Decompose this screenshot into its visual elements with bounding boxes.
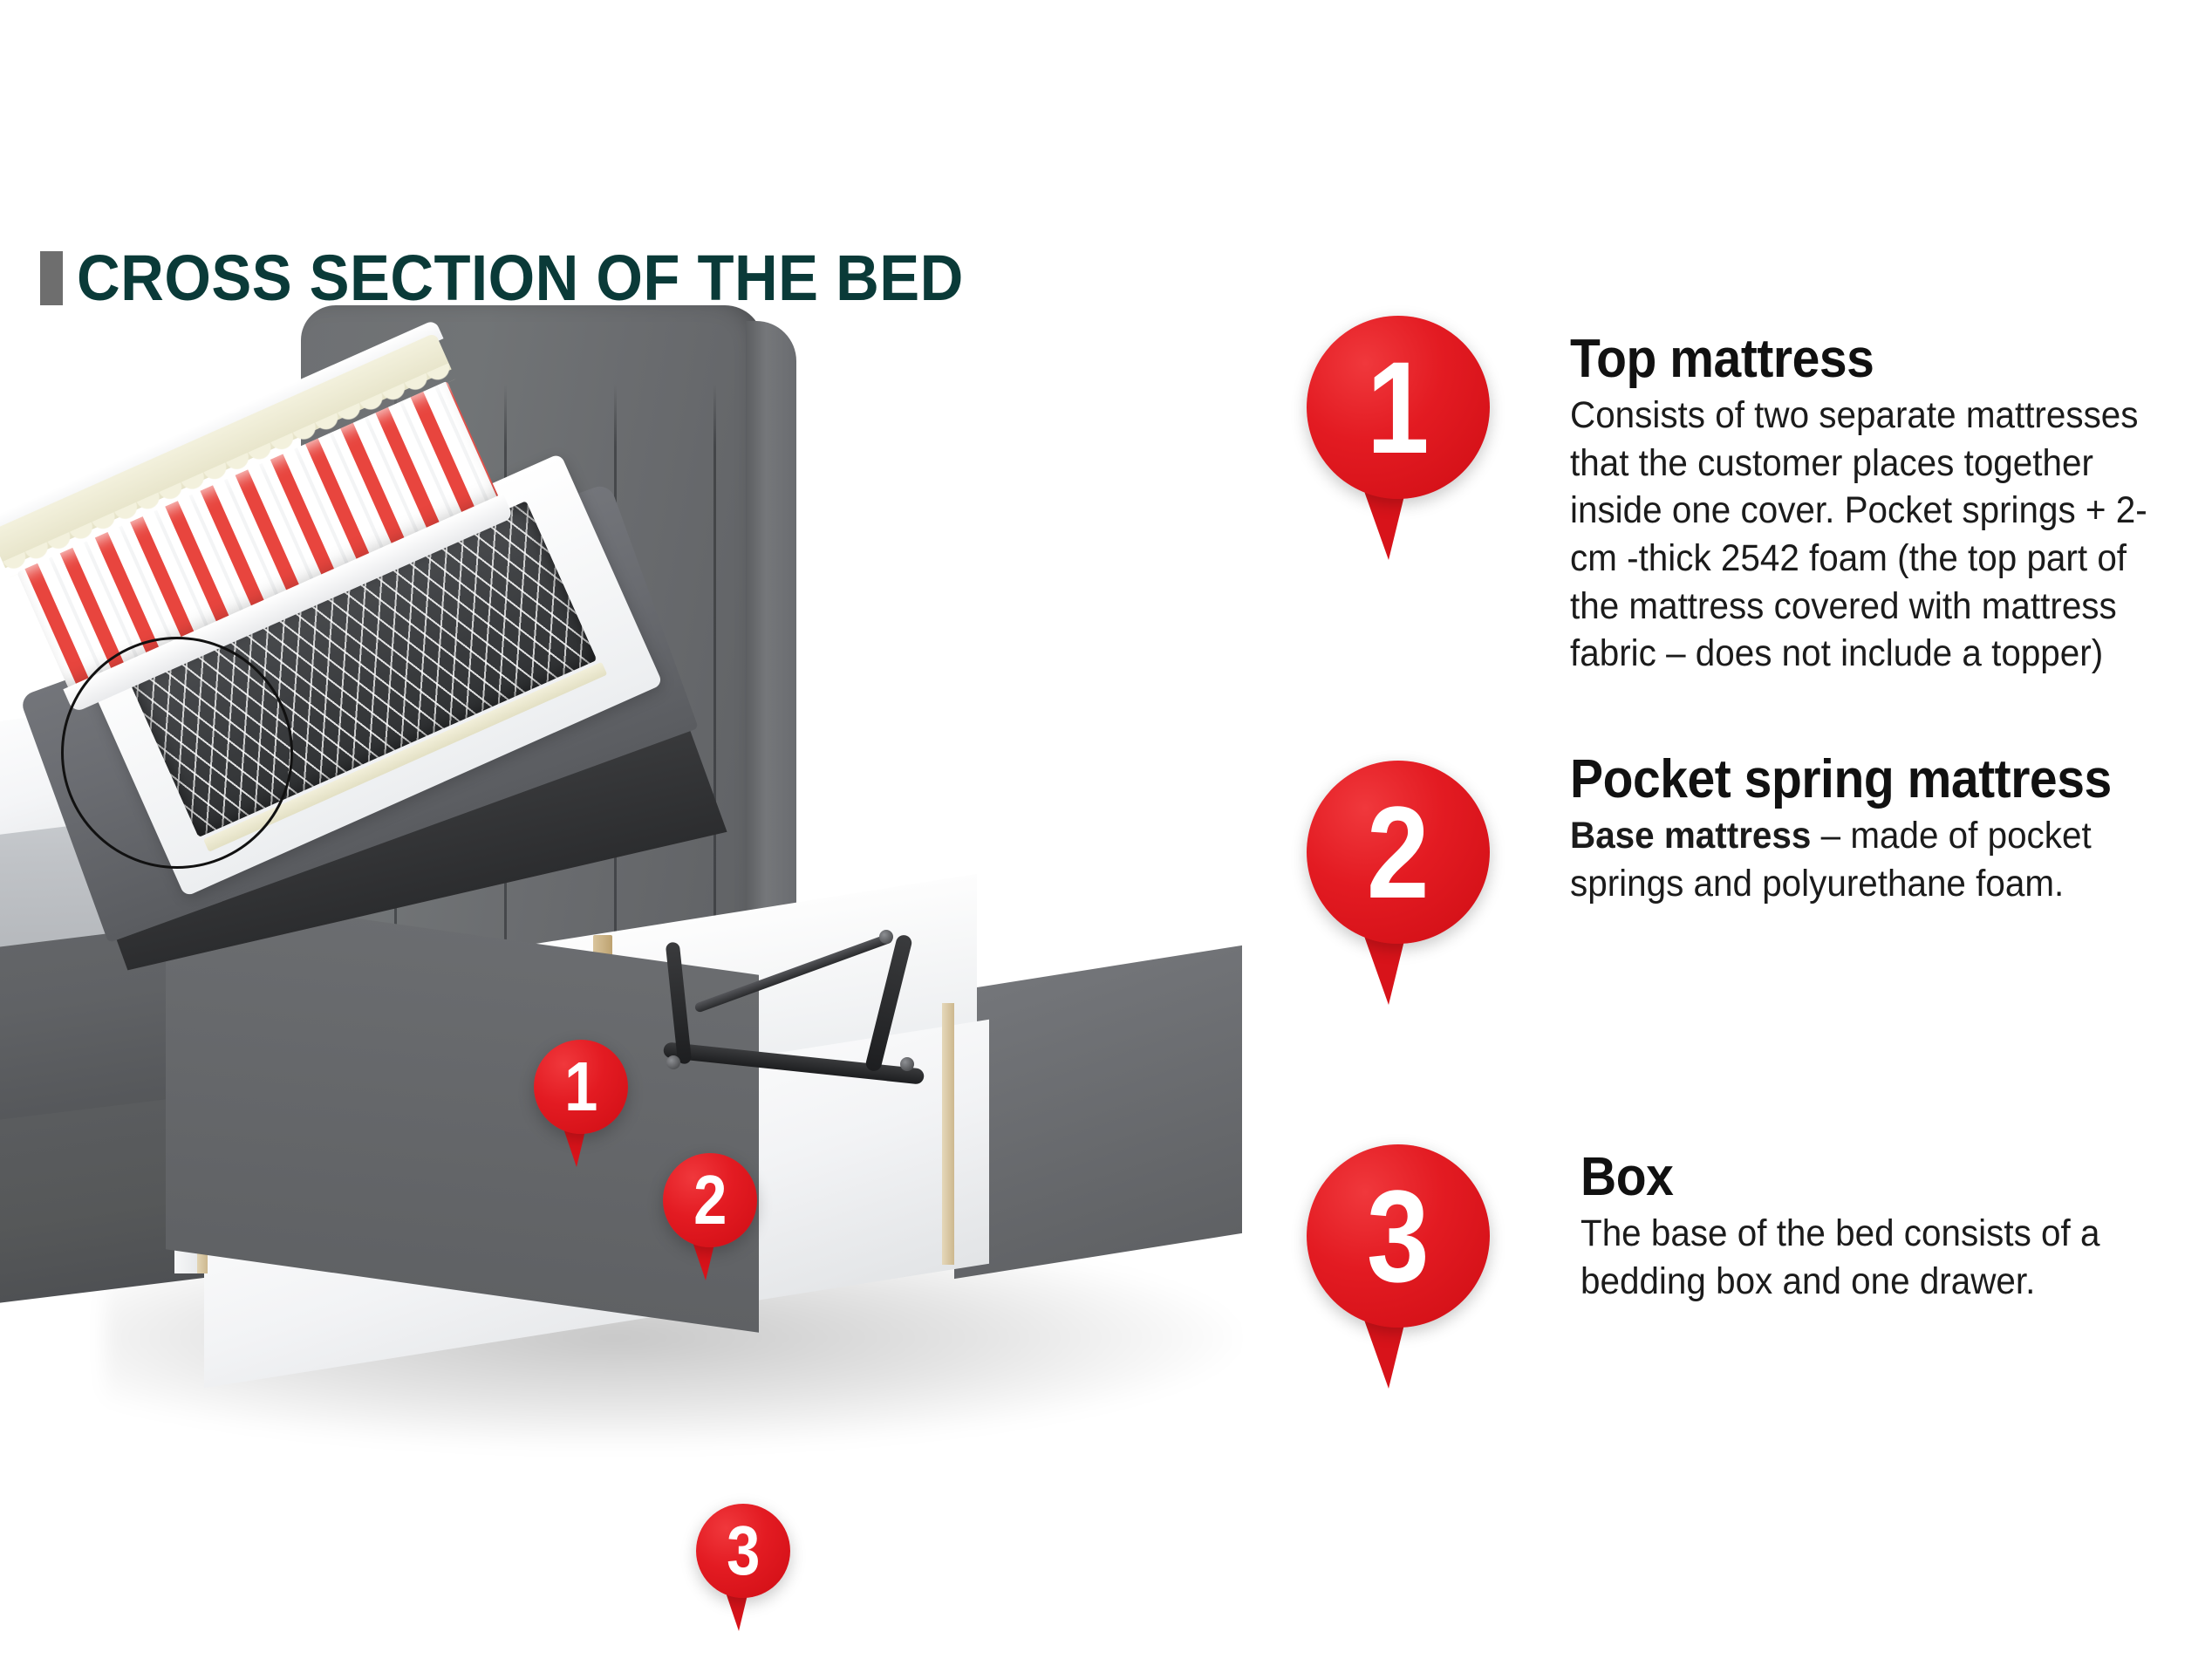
- marker-bubble: 1: [1307, 316, 1490, 499]
- callout-body: The base of the bed consists of a beddin…: [1580, 1210, 2174, 1305]
- marker-number: 3: [727, 1516, 760, 1586]
- marker-number: 1: [564, 1052, 597, 1122]
- callout-heading: Box: [1580, 1150, 2161, 1205]
- strut-pivot: [879, 930, 893, 944]
- marker-bubble: 3: [1307, 1144, 1490, 1328]
- callout-body-lead: Base mattress: [1570, 815, 1811, 857]
- marker-number: 1: [1367, 342, 1430, 473]
- bedding-box-right-panel: [954, 946, 1242, 1279]
- title-accent-bar: [40, 251, 63, 305]
- gas-strut-mechanism: [663, 916, 959, 1134]
- callout-block-pocket-spring-mattress: Pocket spring mattress Base mattress – m…: [1570, 752, 2212, 907]
- strut-pivot: [900, 1057, 914, 1071]
- callout-block-box: Box The base of the bed consists of a be…: [1570, 1150, 2212, 1305]
- callout-body: Base mattress – made of pocket springs a…: [1570, 812, 2174, 907]
- strut-pivot: [666, 1055, 680, 1069]
- callout-heading: Pocket spring mattress: [1570, 752, 2161, 807]
- marker-bubble: 3: [696, 1504, 790, 1598]
- callout-block-top-mattress: Top mattress Consists of two separate ma…: [1570, 331, 2212, 678]
- detail-highlight-circle: [61, 637, 293, 869]
- bed-cross-section-illustration: 1 2 3: [0, 375, 1291, 1474]
- callout-body: Consists of two separate mattresses that…: [1570, 392, 2174, 678]
- strut-bar: [864, 933, 913, 1073]
- marker-number: 3: [1367, 1171, 1430, 1301]
- callout-heading: Top mattress: [1570, 331, 2161, 386]
- strut-piston: [693, 932, 893, 1013]
- marker-bubble: 1: [534, 1040, 628, 1134]
- marker-bubble: 2: [1307, 761, 1490, 944]
- marker-number: 2: [1367, 787, 1430, 918]
- marker-number: 2: [693, 1165, 727, 1235]
- marker-bubble: 2: [663, 1153, 757, 1247]
